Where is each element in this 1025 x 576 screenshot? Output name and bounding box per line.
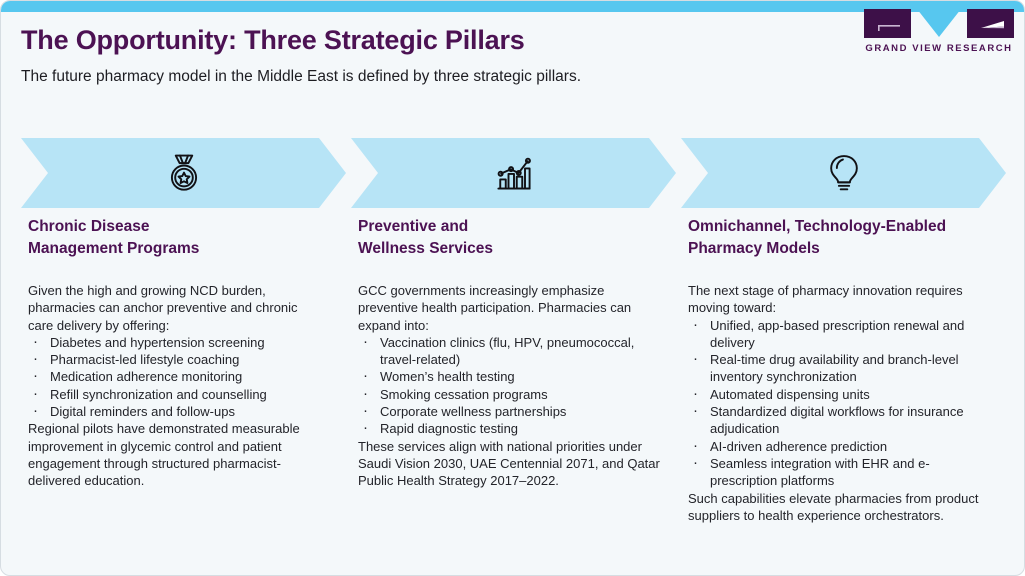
pillar-title-2-line-2: Wellness Services [358,240,493,257]
list-item: Unified, app-based prescription renewal … [688,317,988,352]
list-item: Pharmacist-led lifestyle coaching [28,351,323,368]
pillar-title-2: Preventive and Wellness Services [358,216,663,259]
pillar-chevron-band [1,138,1025,208]
pillar-title-3-line-1: Omnichannel, Technology-Enabled [688,218,946,235]
page-subtitle: The future pharmacy model in the Middle … [21,66,1006,88]
pillar-bullets-3: Unified, app-based prescription renewal … [688,317,988,490]
list-item: Automated dispensing units [688,386,988,403]
list-item: Refill synchronization and counselling [28,386,323,403]
pillar-column-2: Preventive and Wellness Services GCC gov… [358,216,663,490]
pillar-intro-1: Given the high and growing NCD burden, p… [28,282,323,334]
pillar-chevron-3 [681,138,1006,208]
pillar-title-1: Chronic Disease Management Programs [28,216,323,259]
pillar-columns: Chronic Disease Management Programs Give… [1,216,1025,561]
pillar-column-1: Chronic Disease Management Programs Give… [28,216,323,490]
bar-chart-growth-icon [492,151,536,195]
pillar-title-3: Omnichannel, Technology-Enabled Pharmacy… [688,216,988,259]
pillar-column-3: Omnichannel, Technology-Enabled Pharmacy… [688,216,988,524]
list-item: Digital reminders and follow-ups [28,403,323,420]
pillar-title-1-line-1: Chronic Disease [28,218,149,235]
pillar-chevron-2 [351,138,676,208]
pillar-title-2-line-1: Preventive and [358,218,468,235]
slide-root: The Opportunity: Three Strategic Pillars… [0,0,1025,576]
list-item: Rapid diagnostic testing [358,420,663,437]
list-item: Real-time drug availability and branch-l… [688,351,988,386]
pillar-outro-1: Regional pilots have demonstrated measur… [28,420,323,489]
list-item: Seamless integration with EHR and e-pres… [688,455,988,490]
pillar-outro-3: Such capabilities elevate pharmacies fro… [688,490,988,525]
grand-view-research-logo-icon [864,9,1014,38]
pillar-title-3-line-2: Pharmacy Models [688,240,820,257]
pillar-title-1-line-2: Management Programs [28,240,199,257]
lightbulb-icon [822,151,866,195]
pillar-chevron-1 [21,138,346,208]
list-item: Vaccination clinics (flu, HPV, pneumococ… [358,334,663,369]
list-item: Standardized digital workflows for insur… [688,403,988,438]
pillar-bullets-1: Diabetes and hypertension screening Phar… [28,334,323,420]
pillar-outro-2: These services align with national prior… [358,438,663,490]
list-item: Women’s health testing [358,368,663,385]
medal-icon [162,151,206,195]
list-item: AI-driven adherence prediction [688,438,988,455]
list-item: Diabetes and hypertension screening [28,334,323,351]
pillar-bullets-2: Vaccination clinics (flu, HPV, pneumococ… [358,334,663,438]
logo-wordmark: GRAND VIEW RESEARCH [859,43,1019,54]
list-item: Smoking cessation programs [358,386,663,403]
pillar-intro-3: The next stage of pharmacy innovation re… [688,282,988,317]
brand-logo: GRAND VIEW RESEARCH [859,9,1019,54]
pillar-intro-2: GCC governments increasingly emphasize p… [358,282,663,334]
list-item: Corporate wellness partnerships [358,403,663,420]
list-item: Medication adherence monitoring [28,368,323,385]
